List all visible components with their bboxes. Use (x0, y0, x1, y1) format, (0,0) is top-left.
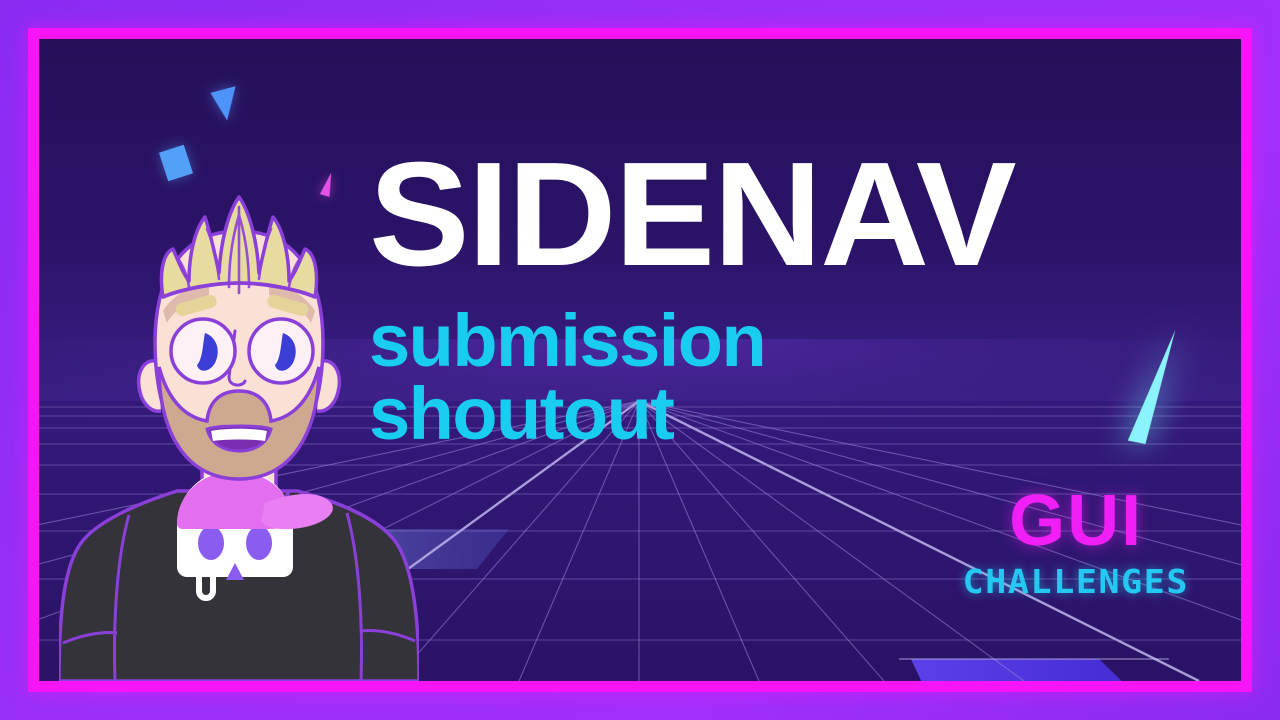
logo-secondary-text: CHALLENGES (963, 562, 1190, 601)
scene-inner: SIDENAV submission shoutout GUI CHALLENG… (39, 39, 1241, 681)
avatar (59, 191, 419, 681)
gui-challenges-logo: GUI CHALLENGES (969, 489, 1183, 601)
title-card-stage: SIDENAV submission shoutout GUI CHALLENG… (0, 0, 1280, 720)
avatar-mohawk-hair (161, 197, 316, 297)
page-title: SIDENAV (369, 147, 1175, 283)
subtitle-line-2: shoutout (369, 378, 1159, 451)
subtitle-line-1: submission (369, 305, 1159, 378)
title-block: SIDENAV submission shoutout (369, 147, 1159, 450)
logo-primary-text: GUI (969, 489, 1183, 554)
subtitle: submission shoutout (369, 305, 1159, 450)
